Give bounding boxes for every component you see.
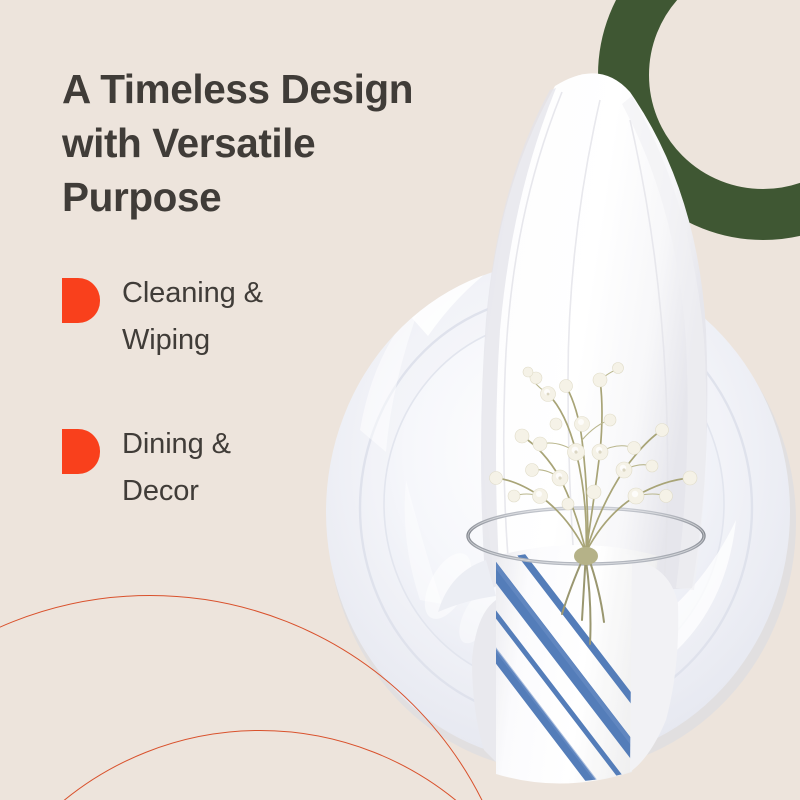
orange-tab-marker-icon bbox=[62, 278, 100, 323]
folded-white-napkin-upper bbox=[483, 73, 708, 600]
page-title: A Timeless Design with Versatile Purpose bbox=[62, 62, 482, 224]
feature-label: Cleaning & Wiping bbox=[122, 270, 263, 364]
list-item: Dining & Decor bbox=[62, 421, 352, 515]
feature-list: Cleaning & Wiping Dining & Decor bbox=[62, 270, 352, 572]
product-feature-card: A Timeless Design with Versatile Purpose… bbox=[0, 0, 800, 800]
feature-label: Dining & Decor bbox=[122, 421, 231, 515]
stem-binding bbox=[574, 547, 598, 565]
list-item: Cleaning & Wiping bbox=[62, 270, 352, 364]
orange-tab-marker-icon bbox=[62, 429, 100, 474]
